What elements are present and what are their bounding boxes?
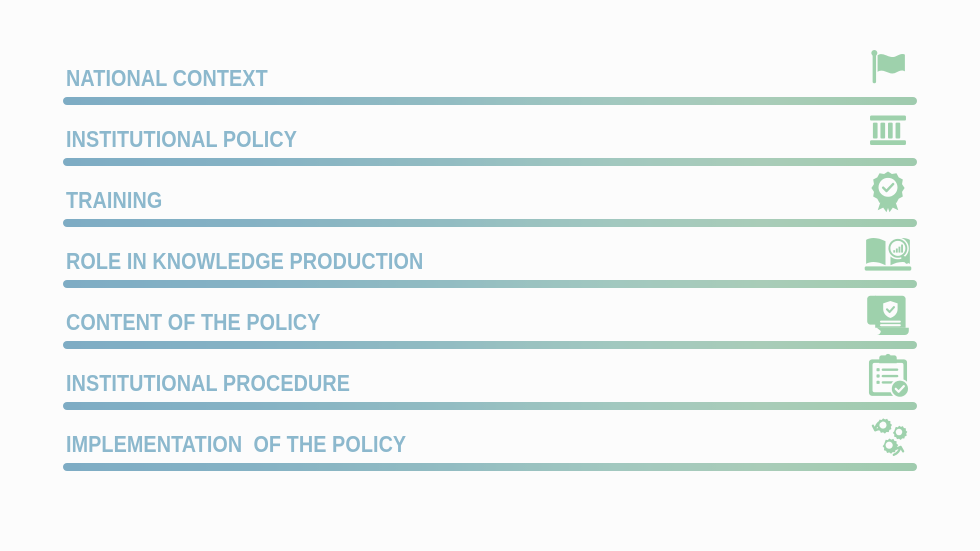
slide-canvas: NATIONAL CONTEXT INSTITUTIONAL POLICY: [0, 0, 980, 551]
list-item-label: INSTITUTIONAL PROCEDURE: [66, 372, 350, 395]
list-item-divider-bar: [63, 341, 917, 349]
list-item[interactable]: INSTITUTIONAL POLICY: [63, 107, 917, 168]
policy-framework-list: NATIONAL CONTEXT INSTITUTIONAL POLICY: [63, 46, 917, 473]
award-ribbon-check-icon: [861, 168, 915, 216]
list-item-label: CONTENT OF THE POLICY: [66, 311, 321, 334]
list-item-divider-bar: [63, 280, 917, 288]
list-item-divider-bar: [63, 219, 917, 227]
list-item[interactable]: CONTENT OF THE POLICY: [63, 290, 917, 351]
list-item[interactable]: IMPLEMENTATION OF THE POLICY: [63, 412, 917, 473]
gears-process-icon: [861, 412, 915, 460]
list-item-label: NATIONAL CONTEXT: [66, 67, 268, 90]
list-item[interactable]: TRAINING: [63, 168, 917, 229]
document-shield-check-icon: [861, 290, 915, 338]
list-item-label: INSTITUTIONAL POLICY: [66, 128, 297, 151]
list-item-divider-bar: [63, 158, 917, 166]
list-item-label: ROLE IN KNOWLEDGE PRODUCTION: [66, 250, 423, 273]
list-item[interactable]: INSTITUTIONAL PROCEDURE: [63, 351, 917, 412]
list-item-divider-bar: [63, 402, 917, 410]
list-item[interactable]: NATIONAL CONTEXT: [63, 46, 917, 107]
open-book-magnifier-icon: [861, 229, 915, 277]
classical-building-icon: [861, 107, 915, 155]
list-item-divider-bar: [63, 463, 917, 471]
list-item[interactable]: ROLE IN KNOWLEDGE PRODUCTION: [63, 229, 917, 290]
list-item-label: TRAINING: [66, 189, 162, 212]
flag-icon: [861, 46, 915, 94]
list-item-divider-bar: [63, 97, 917, 105]
list-item-label: IMPLEMENTATION OF THE POLICY: [66, 433, 406, 456]
clipboard-checklist-icon: [861, 351, 915, 399]
